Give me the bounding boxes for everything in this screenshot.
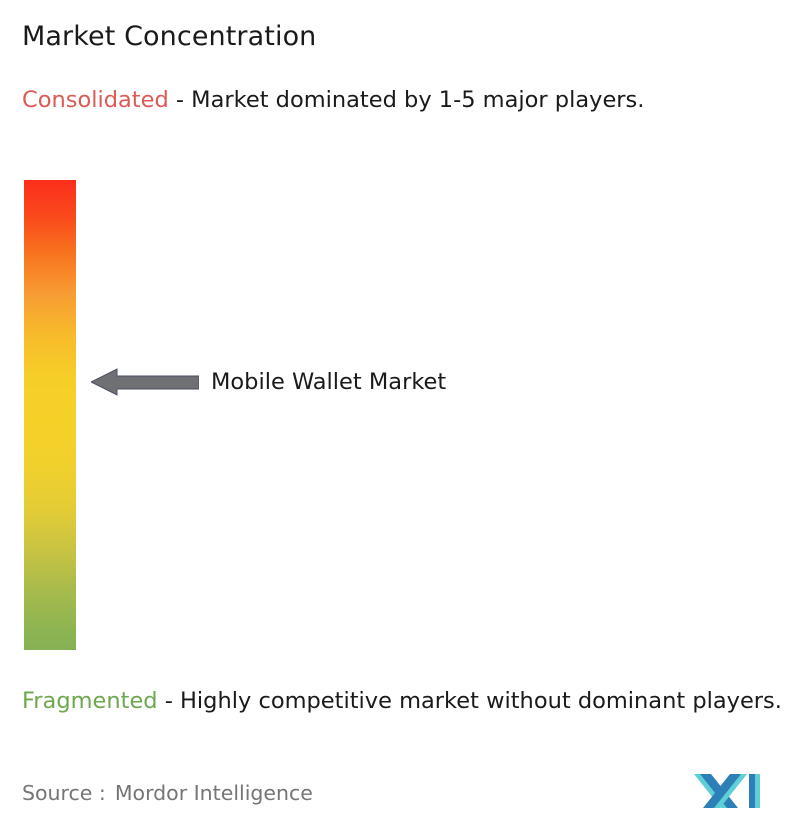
market-pointer: Mobile Wallet Market bbox=[91, 366, 446, 398]
legend-fragmented-keyword: Fragmented bbox=[22, 688, 158, 714]
concentration-gradient-bar bbox=[24, 180, 76, 650]
source-label: Source : bbox=[22, 781, 108, 805]
mordor-intelligence-logo bbox=[692, 768, 766, 812]
source-name: Mordor Intelligence bbox=[115, 781, 313, 805]
source-line: Source :Mordor Intelligence bbox=[22, 779, 313, 807]
page-title: Market Concentration bbox=[22, 20, 316, 54]
legend-fragmented-description: - Highly competitive market without domi… bbox=[158, 688, 782, 714]
left-arrow-icon bbox=[91, 367, 199, 397]
legend-consolidated-keyword: Consolidated bbox=[22, 87, 169, 113]
legend-consolidated-description: - Market dominated by 1-5 major players. bbox=[169, 87, 645, 113]
legend-consolidated: Consolidated - Market dominated by 1-5 m… bbox=[22, 85, 774, 115]
legend-fragmented: Fragmented - Highly competitive market w… bbox=[22, 686, 784, 717]
market-pointer-label: Mobile Wallet Market bbox=[211, 367, 446, 397]
market-concentration-chart: Market Concentration Consolidated - Mark… bbox=[0, 0, 796, 834]
